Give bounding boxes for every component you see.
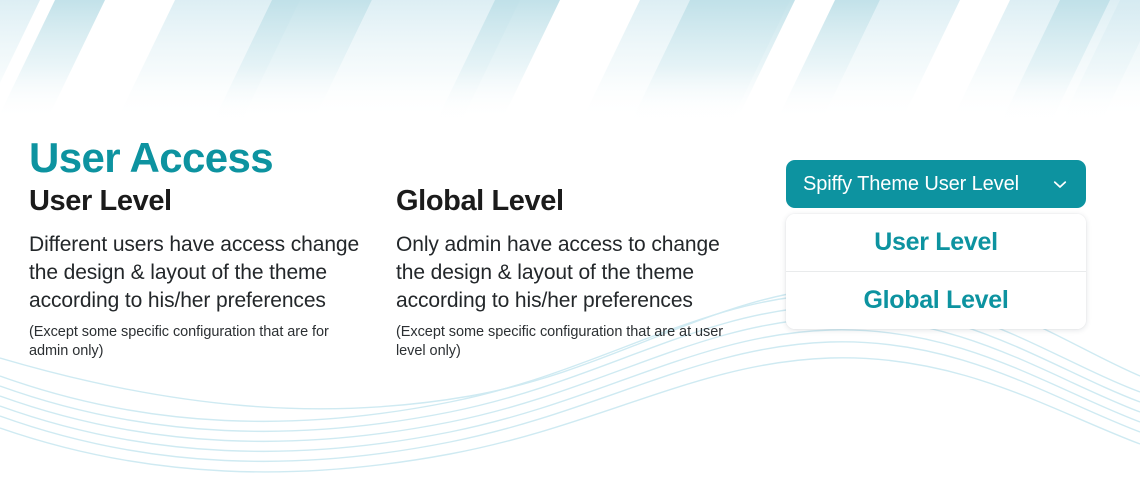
slide-content: User Access User Level Different users h… bbox=[0, 0, 1140, 500]
user-level-dropdown: Spiffy Theme User Level User Level Globa… bbox=[786, 160, 1086, 329]
dropdown-option-user-level[interactable]: User Level bbox=[786, 214, 1086, 271]
column-global-level: Global Level Only admin have access to c… bbox=[396, 183, 726, 361]
dropdown-selected-label: Spiffy Theme User Level bbox=[803, 172, 1019, 196]
chevron-down-icon bbox=[1051, 175, 1069, 193]
slide-user-access: User Access User Level Different users h… bbox=[0, 0, 1140, 500]
column-heading-global-level: Global Level bbox=[396, 183, 726, 219]
column-note-global-level: (Except some specific configuration that… bbox=[396, 323, 726, 361]
dropdown-option-global-level[interactable]: Global Level bbox=[786, 271, 1086, 329]
dropdown-toggle-button[interactable]: Spiffy Theme User Level bbox=[786, 160, 1086, 208]
page-title: User Access bbox=[29, 132, 273, 184]
column-heading-user-level: User Level bbox=[29, 183, 369, 219]
column-user-level: User Level Different users have access c… bbox=[29, 183, 369, 361]
column-note-user-level: (Except some specific configuration that… bbox=[29, 323, 369, 361]
column-body-user-level: Different users have access change the d… bbox=[29, 231, 369, 315]
dropdown-options-menu: User Level Global Level bbox=[786, 214, 1086, 329]
column-body-global-level: Only admin have access to change the des… bbox=[396, 231, 726, 315]
